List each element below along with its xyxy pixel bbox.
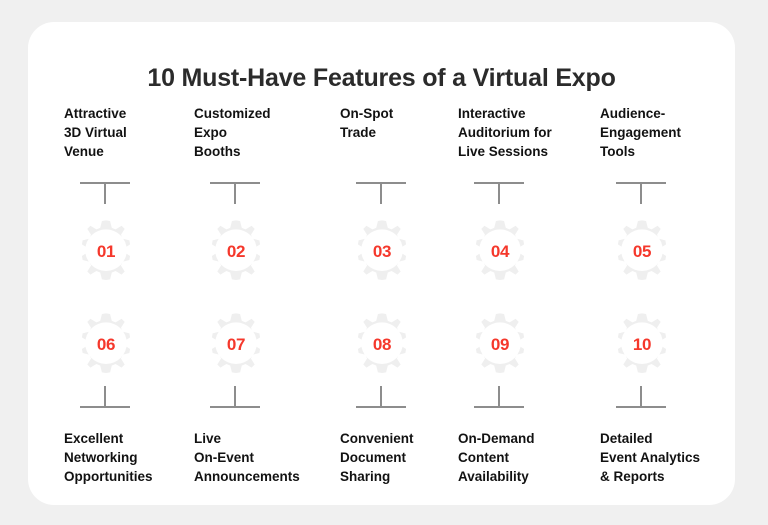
- connector-stem: [640, 183, 642, 204]
- gear-icon-10: 10: [609, 312, 675, 378]
- connector-stem: [498, 183, 500, 204]
- connector-line-07: [210, 386, 260, 408]
- feature-label-02: Customized Expo Booths: [194, 104, 332, 161]
- gear-icon-02: 02: [203, 219, 269, 285]
- feature-number-04: 04: [467, 219, 533, 285]
- connector-stem: [234, 183, 236, 204]
- connector-stem: [380, 386, 382, 407]
- page-title: 10 Must-Have Features of a Virtual Expo: [28, 64, 735, 93]
- gear-icon-09: 09: [467, 312, 533, 378]
- gear-icon-07: 07: [203, 312, 269, 378]
- feature-label-07: Live On-Event Announcements: [194, 429, 332, 486]
- feature-column-4: Interactive Auditorium for Live Sessions…: [458, 104, 586, 494]
- gear-icon-06: 06: [73, 312, 139, 378]
- connector-line-04: [474, 182, 524, 204]
- feature-number-02: 02: [203, 219, 269, 285]
- feature-column-2: Customized Expo Booths 02 07 Live On-Eve…: [194, 104, 322, 494]
- feature-number-09: 09: [467, 312, 533, 378]
- feature-column-3: On-Spot Trade 03 08 Convenient Document …: [340, 104, 468, 494]
- gear-icon-05: 05: [609, 219, 675, 285]
- feature-number-08: 08: [349, 312, 415, 378]
- feature-number-10: 10: [609, 312, 675, 378]
- feature-label-01: Attractive 3D Virtual Venue: [64, 104, 202, 161]
- feature-number-07: 07: [203, 312, 269, 378]
- gear-icon-04: 04: [467, 219, 533, 285]
- connector-stem: [640, 386, 642, 407]
- connector-stem: [234, 386, 236, 407]
- connector-line-09: [474, 386, 524, 408]
- feature-label-06: Excellent Networking Opportunities: [64, 429, 202, 486]
- gear-icon-03: 03: [349, 219, 415, 285]
- feature-number-06: 06: [73, 312, 139, 378]
- connector-stem: [104, 386, 106, 407]
- gear-icon-01: 01: [73, 219, 139, 285]
- connector-line-10: [616, 386, 666, 408]
- feature-number-03: 03: [349, 219, 415, 285]
- connector-line-06: [80, 386, 130, 408]
- feature-column-5: Audience- Engagement Tools 05 10 Detaile…: [600, 104, 728, 494]
- connector-stem: [498, 386, 500, 407]
- connector-line-05: [616, 182, 666, 204]
- feature-label-10: Detailed Event Analytics & Reports: [600, 429, 738, 486]
- feature-label-04: Interactive Auditorium for Live Sessions: [458, 104, 596, 161]
- connector-line-08: [356, 386, 406, 408]
- connector-line-03: [356, 182, 406, 204]
- feature-label-09: On-Demand Content Availability: [458, 429, 596, 486]
- connector-stem: [104, 183, 106, 204]
- connector-stem: [380, 183, 382, 204]
- connector-line-01: [80, 182, 130, 204]
- feature-column-1: Attractive 3D Virtual Venue 01 06 Excell…: [64, 104, 192, 494]
- gear-icon-08: 08: [349, 312, 415, 378]
- connector-line-02: [210, 182, 260, 204]
- feature-number-05: 05: [609, 219, 675, 285]
- infographic-card: 10 Must-Have Features of a Virtual Expo …: [28, 22, 735, 505]
- feature-number-01: 01: [73, 219, 139, 285]
- feature-label-05: Audience- Engagement Tools: [600, 104, 738, 161]
